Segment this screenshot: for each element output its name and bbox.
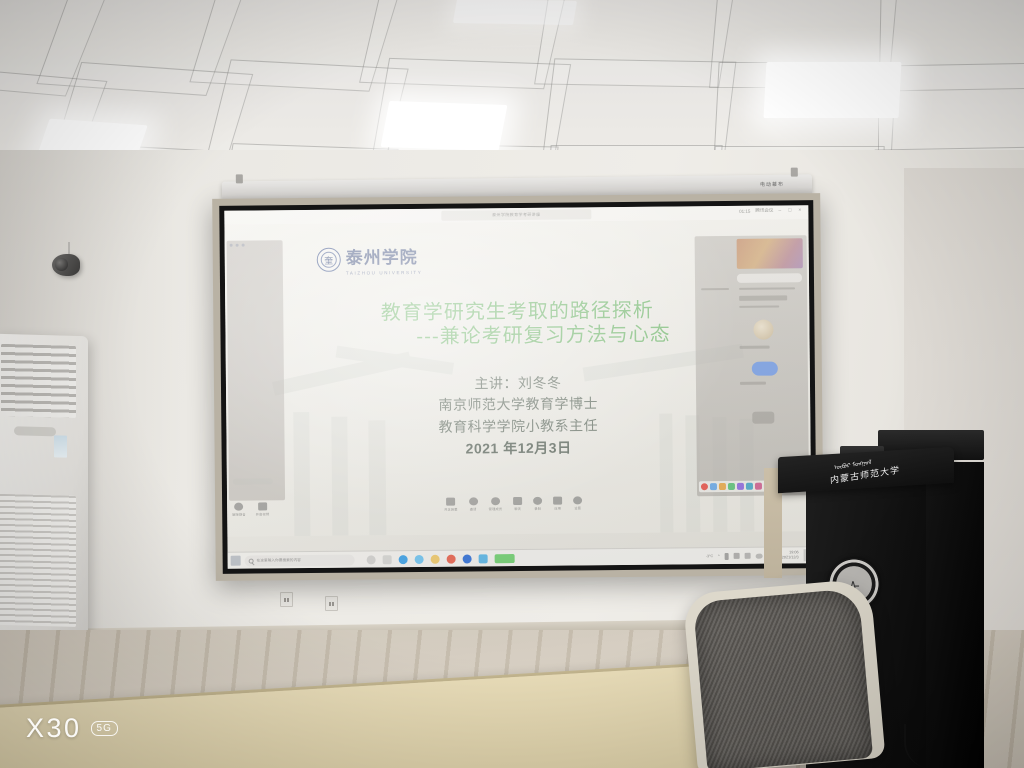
meeting-toolbar[interactable]: 共享屏幕 邀请 管理成员 <box>347 495 679 515</box>
housing-label: 电动幕布 <box>760 181 784 188</box>
panel-banner-image <box>737 238 803 269</box>
network-icon[interactable] <box>734 553 740 559</box>
windows-taskbar[interactable]: 在这里输入你要搜索的内容 <box>228 546 812 569</box>
photos-icon[interactable] <box>479 554 488 563</box>
wps-icon[interactable] <box>447 554 456 563</box>
windows-start-icon[interactable] <box>231 556 241 566</box>
microphone-icon <box>234 503 243 511</box>
ac-lower-vent <box>0 494 76 627</box>
air-conditioner <box>0 334 88 642</box>
edge-browser-icon[interactable] <box>399 555 408 564</box>
rail-dots-icon <box>230 244 245 247</box>
watermark-network-badge: 5G <box>91 721 118 736</box>
chat-button[interactable]: 聊天 <box>513 497 522 511</box>
power-outlet <box>280 592 293 607</box>
cloud-icon[interactable] <box>756 553 763 558</box>
ac-top-vent <box>1 344 76 418</box>
mic-control[interactable]: 解除静音 <box>232 503 246 517</box>
twitter-icon[interactable] <box>415 554 424 563</box>
search-input[interactable]: 在这里输入你要搜索的内容 <box>245 554 355 566</box>
search-icon <box>249 558 254 563</box>
rail-entry[interactable] <box>233 478 273 484</box>
record-icon <box>533 497 542 505</box>
join-meeting-button[interactable] <box>752 362 778 376</box>
watermark-model: X30 <box>26 713 82 744</box>
meeting-av-controls[interactable]: 解除静音 开启视频 <box>232 502 269 516</box>
projection-screen: 泰州学院教育学考研讲座 01:15 腾讯会议 – □ × <box>212 193 824 581</box>
mail-icon[interactable] <box>431 554 440 563</box>
panel-search-field[interactable] <box>737 273 802 283</box>
office-chair <box>690 586 880 768</box>
battery-icon[interactable] <box>725 552 729 559</box>
app-badge: 腾讯会议 <box>755 208 773 214</box>
ac-energy-label <box>54 435 67 457</box>
ceiling-light-panel-right <box>764 62 902 118</box>
participant-avatar <box>753 320 773 340</box>
minimize-icon[interactable]: – <box>778 208 783 213</box>
share-screen-button[interactable]: 共享屏幕 <box>444 498 458 512</box>
maximize-icon[interactable]: □ <box>788 208 793 213</box>
manage-members-icon <box>491 497 500 505</box>
qq-icon[interactable] <box>463 554 472 563</box>
university-seal-icon <box>317 248 341 272</box>
power-outlet <box>325 596 338 611</box>
university-name-en: TAIZHOU UNIVERSITY <box>346 270 423 276</box>
invite-button[interactable]: 邀请 <box>469 497 478 511</box>
tencent-meeting-icon[interactable] <box>495 554 515 563</box>
chevron-up-icon[interactable]: ^ <box>718 554 720 558</box>
chat-icon <box>513 497 522 505</box>
ac-display-panel <box>14 426 56 436</box>
wall-speaker <box>52 254 80 276</box>
ceiling-light-panel-far <box>453 0 577 25</box>
camera-watermark: X30 5G <box>26 713 118 744</box>
classroom-photo: 电动幕布 泰州学院教育学考研讲座 01:15 腾讯会议 – □ <box>0 0 1024 768</box>
settings-icon <box>573 496 582 504</box>
apps-icon <box>553 497 562 505</box>
weather-indicator[interactable]: -3°C <box>706 554 713 558</box>
chair-mesh-back <box>693 588 873 768</box>
ceiling-light-panel-center <box>381 101 508 151</box>
video-camera-icon <box>258 502 267 510</box>
manage-members-button[interactable]: 管理成员 <box>489 497 503 511</box>
participants-icon <box>469 497 478 505</box>
close-icon[interactable]: × <box>798 208 803 213</box>
meeting-clock: 01:15 <box>739 208 750 213</box>
record-button[interactable]: 录制 <box>533 497 542 511</box>
speaker-cone-icon <box>55 258 68 271</box>
presentation-slide: 泰州学院 TAIZHOU UNIVERSITY 教育学研究生考取的路径探析 --… <box>224 219 811 537</box>
university-name-cn: 泰州学院 <box>346 243 423 269</box>
task-view-icon[interactable] <box>383 555 392 564</box>
search-placeholder: 在这里输入你要搜索的内容 <box>257 558 301 563</box>
apps-button[interactable]: 应用 <box>553 497 562 511</box>
volume-icon[interactable] <box>745 553 751 559</box>
share-screen-icon <box>446 498 455 506</box>
university-logo: 泰州学院 TAIZHOU UNIVERSITY <box>317 243 423 276</box>
video-control[interactable]: 开启视频 <box>256 502 270 516</box>
window-tab-title[interactable]: 泰州学院教育学考研讲座 <box>441 209 591 220</box>
settings-button[interactable]: 设置 <box>573 496 582 510</box>
projected-desktop: 泰州学院教育学考研讲座 01:15 腾讯会议 – □ × <box>224 205 811 569</box>
cortana-icon[interactable] <box>367 555 376 564</box>
